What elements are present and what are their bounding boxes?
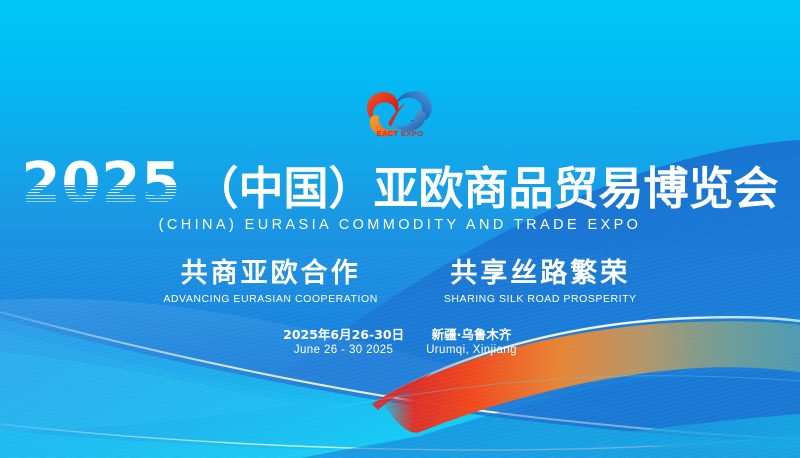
slogan-left: 共商亚欧合作 ADVANCING EURASIAN COOPERATION — [163, 258, 377, 306]
event-date: 2025年6月26-30日 June 26 - 30 2025 — [283, 327, 404, 358]
year-block: 2025 2025 — [21, 156, 193, 214]
logo-blue-upper-swoosh — [395, 91, 432, 122]
event-info-row: 2025年6月26-30日 June 26 - 30 2025 新疆·乌鲁木齐 … — [0, 327, 800, 358]
wave-bottom-rim-line — [0, 424, 800, 450]
wave-bottom-cyan — [0, 430, 800, 458]
event-date-cn: 2025年6月26-30日 — [283, 327, 404, 343]
slogan-right: 共享丝路繁荣 SHARING SILK ROAD PROSPERITY — [444, 258, 637, 306]
main-title-row: 2025 2025 （中国）亚欧商品贸易博览会 — [0, 152, 800, 214]
main-title-cn: （中国）亚欧商品贸易博览会 — [193, 164, 778, 214]
slogan-right-en: SHARING SILK ROAD PROSPERITY — [444, 293, 637, 306]
wave-red-tip — [372, 373, 432, 410]
expo-banner: EACT EXPO 2025 2025 （中国）亚欧商品贸易博览会 (CHINA… — [0, 0, 800, 458]
wave-under-shading — [300, 371, 800, 458]
eact-expo-logo-icon: EACT EXPO — [354, 84, 446, 140]
slogan-right-cn: 共享丝路繁荣 — [444, 258, 637, 290]
wave-left-lens — [0, 352, 300, 432]
wave-cyan-thread — [330, 376, 800, 408]
event-date-en: June 26 - 30 2025 — [283, 343, 404, 358]
logo-container: EACT EXPO — [354, 0, 446, 140]
event-venue: 新疆·乌鲁木齐 Urumqi, Xinjiang — [426, 327, 517, 358]
slogan-left-en: ADVANCING EURASIAN COOPERATION — [163, 293, 377, 306]
main-title-en: (CHINA) EURASIA COMMODITY AND TRADE EXPO — [0, 217, 800, 234]
event-venue-en: Urumqi, Xinjiang — [426, 343, 517, 358]
banner-content: EACT EXPO 2025 2025 （中国）亚欧商品贸易博览会 (CHINA… — [0, 0, 800, 358]
year-text-striped: 2025 — [21, 156, 181, 212]
slogan-row: 共商亚欧合作 ADVANCING EURASIAN COOPERATION 共享… — [0, 258, 800, 306]
logo-blue-lower-hook — [393, 110, 426, 131]
logo-wordmark: EACT EXPO — [377, 129, 424, 138]
event-venue-cn: 新疆·乌鲁木齐 — [426, 327, 517, 343]
wave-bottom-right-cyan — [560, 414, 800, 448]
slogan-left-cn: 共商亚欧合作 — [163, 258, 377, 290]
